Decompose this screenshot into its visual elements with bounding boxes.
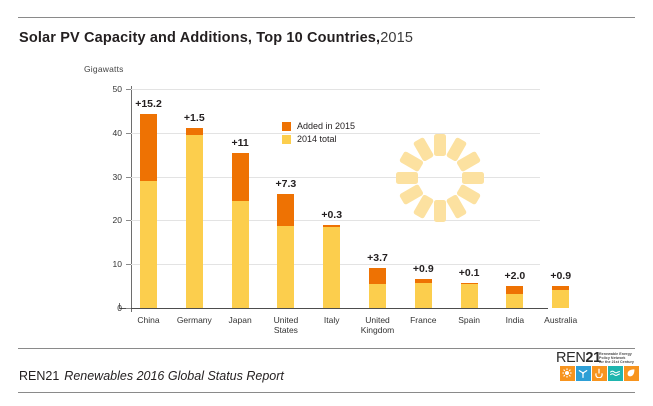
bar-segment-2014-total <box>415 283 432 308</box>
bar-japan[interactable]: +11 <box>232 153 249 308</box>
bar-segment-2014-total <box>277 226 294 308</box>
bar-segment-added-2015 <box>552 286 569 290</box>
bar-united-states[interactable]: +7.3 <box>277 194 294 308</box>
bar-value-label: +0.1 <box>459 267 480 279</box>
bar-india[interactable]: +2.0 <box>506 286 523 308</box>
y-tick-label: 40 <box>96 129 122 138</box>
y-axis-unit-label: Gigawatts <box>84 64 124 74</box>
bar-australia[interactable]: +0.9 <box>552 286 569 308</box>
ren21-wordmark: REN21 <box>556 351 601 365</box>
bar-value-label: +0.9 <box>550 270 571 282</box>
bioenergy-leaf-icon <box>624 366 639 381</box>
bar-italy[interactable]: +0.3 <box>323 225 340 308</box>
bar-segment-2014-total <box>506 294 523 308</box>
legend-label: 2014 total <box>297 134 337 144</box>
x-label-australia: Australia <box>544 315 577 325</box>
x-label-italy: Italy <box>324 315 340 325</box>
bar-france[interactable]: +0.9 <box>415 279 432 308</box>
legend-label: Added in 2015 <box>297 121 355 131</box>
ren21-logo: REN21 Renewable Energy Policy Network fo… <box>556 351 642 385</box>
ren21-icon-tiles <box>560 366 639 381</box>
footer-brand: REN21 <box>19 369 59 383</box>
bar-segment-2014-total <box>186 135 203 308</box>
bar-value-label: +7.3 <box>276 178 297 190</box>
y-tick-label: 0 <box>96 304 122 313</box>
bar-segment-added-2015 <box>415 279 432 283</box>
x-axis-line <box>119 308 548 309</box>
ren21-tagline-line3: for the 21st Century <box>599 360 643 364</box>
x-label-spain: Spain <box>458 315 480 325</box>
footer-caption: REN21Renewables 2016 Global Status Repor… <box>19 369 284 383</box>
ren21-tagline: Renewable Energy Policy Network for the … <box>599 352 643 364</box>
bar-segment-2014-total <box>552 290 569 308</box>
bar-segment-2014-total <box>461 284 478 308</box>
y-tick-label: 50 <box>96 85 122 94</box>
bar-segment-added-2015 <box>186 128 203 135</box>
y-tick-label: 20 <box>96 216 122 225</box>
bar-segment-added-2015 <box>140 114 157 181</box>
solar-icon <box>560 366 575 381</box>
x-label-japan: Japan <box>229 315 252 325</box>
bar-segment-2014-total <box>232 201 249 308</box>
bar-china[interactable]: +15.2 <box>140 114 157 308</box>
bar-value-label: +11 <box>231 137 248 149</box>
water-waves-icon <box>608 366 623 381</box>
bar-spain[interactable]: +0.1 <box>461 283 478 308</box>
y-tick-label: 30 <box>96 173 122 182</box>
bottom-rule <box>18 392 635 393</box>
bar-segment-2014-total <box>140 181 157 308</box>
x-label-china: China <box>137 315 159 325</box>
footer-rule <box>18 348 635 349</box>
bar-united-kingdom[interactable]: +3.7 <box>369 268 386 308</box>
legend-item[interactable]: 2014 total <box>282 134 355 144</box>
bar-segment-added-2015 <box>369 268 386 284</box>
x-label-germany: Germany <box>177 315 212 325</box>
legend-item[interactable]: Added in 2015 <box>282 121 355 131</box>
bar-value-label: +3.7 <box>367 252 388 264</box>
bar-value-label: +2.0 <box>505 270 526 282</box>
bar-value-label: +1.5 <box>184 112 205 124</box>
legend-swatch <box>282 135 291 144</box>
power-icon <box>592 366 607 381</box>
y-tick-mark <box>126 308 131 309</box>
chart-legend: Added in 20152014 total <box>282 121 355 147</box>
bar-segment-added-2015 <box>277 194 294 226</box>
y-tick-label: 10 <box>96 260 122 269</box>
x-label-united-kingdom: United Kingdom <box>361 315 395 335</box>
bar-segment-added-2015 <box>506 286 523 295</box>
bar-segment-2014-total <box>369 284 386 308</box>
legend-swatch <box>282 122 291 131</box>
x-label-united-states: United States <box>274 315 299 335</box>
bar-value-label: +0.3 <box>321 209 342 221</box>
bar-segment-added-2015 <box>232 153 249 201</box>
bar-value-label: +0.9 <box>413 263 434 275</box>
bar-segment-added-2015 <box>323 225 340 226</box>
x-label-france: France <box>410 315 436 325</box>
footer-report-title: Renewables 2016 Global Status Report <box>64 369 284 383</box>
bar-segment-2014-total <box>323 227 340 308</box>
bar-germany[interactable]: +1.5 <box>186 128 203 308</box>
wind-turbine-icon <box>576 366 591 381</box>
x-label-india: India <box>506 315 524 325</box>
bar-value-label: +15.2 <box>135 98 162 110</box>
solar-pv-bar-chart: Gigawatts 01020304050 +15.2+1.5+11+7.3+0… <box>0 0 653 348</box>
ren21-wordmark-ren: REN <box>556 350 585 366</box>
